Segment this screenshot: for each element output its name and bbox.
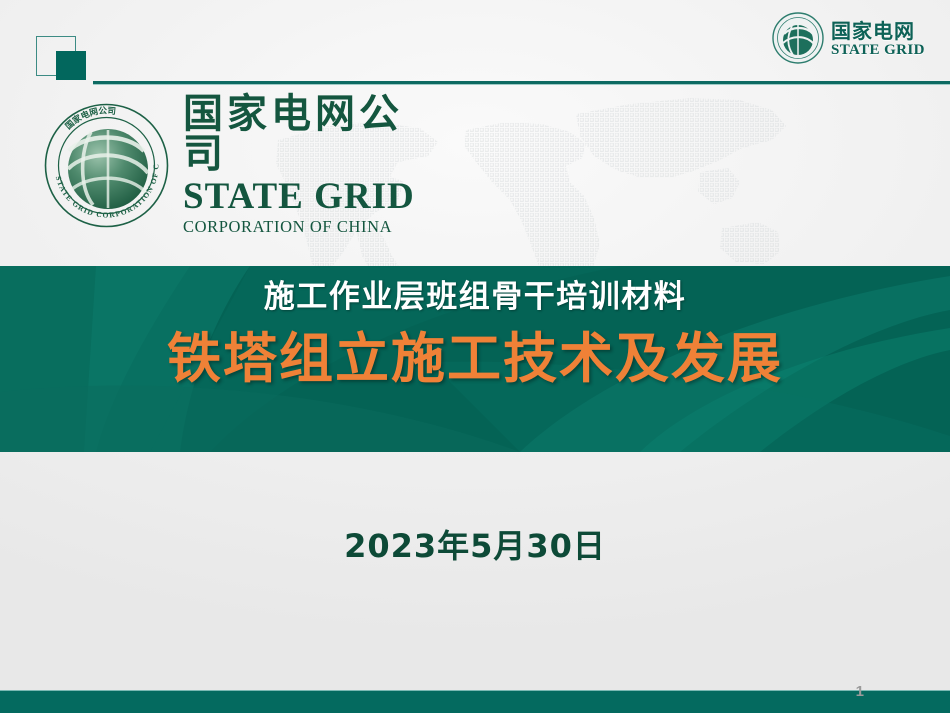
slide-canvas: 国家电网 STATE GRID	[0, 0, 950, 713]
main-logo-chinese: 国家电网公司	[183, 94, 434, 174]
header-logo-chinese: 国家电网	[831, 21, 925, 41]
page-number: 1	[856, 683, 864, 700]
main-logo-english-primary: STATE GRID	[183, 178, 434, 215]
state-grid-globe-icon: 国家电网公司 STATE GRID CORPORATION OF CHINA	[44, 103, 169, 228]
svg-text:国家电网公司: 国家电网公司	[63, 105, 116, 132]
slide-main-title: 铁塔组立施工技术及发展	[167, 330, 783, 388]
title-band: 施工作业层班组骨干培训材料 铁塔组立施工技术及发展	[0, 266, 950, 452]
footer-band: 1	[0, 690, 950, 713]
header-divider	[93, 81, 950, 84]
slide-subtitle: 施工作业层班组骨干培训材料	[264, 280, 687, 316]
slide-date: 2023年5月30日	[0, 521, 950, 567]
state-grid-globe-icon	[772, 12, 824, 64]
header-brand-logo: 国家电网 STATE GRID	[772, 9, 942, 67]
header-logo-english: STATE GRID	[831, 43, 925, 58]
main-brand-logo: 国家电网公司 STATE GRID CORPORATION OF CHINA 国…	[44, 100, 434, 230]
main-logo-english-secondary: CORPORATION OF CHINA	[183, 219, 434, 236]
square-filled-decoration	[56, 51, 86, 80]
